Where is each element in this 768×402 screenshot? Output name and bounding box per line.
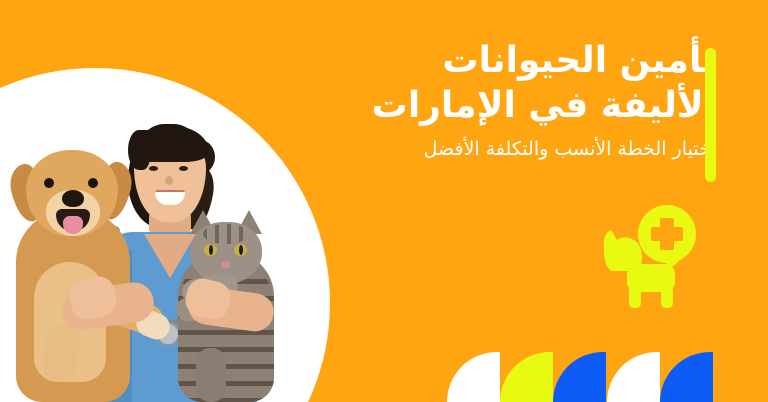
vet-hair-front (131, 126, 209, 162)
dog-eye-right (88, 178, 98, 188)
cat-forehead-markings (203, 224, 249, 244)
vet-nose (165, 176, 173, 185)
vertical-accent-bar (705, 48, 716, 182)
headline-line-1: تأمين الحيوانات (316, 38, 716, 83)
vet-eye-right (179, 166, 188, 171)
quarter-circle-1 (447, 352, 500, 402)
cat-nose (221, 261, 230, 268)
quarter-circle-2 (500, 352, 553, 402)
quarter-circle-5 (660, 352, 713, 402)
vet-eye-left (149, 166, 158, 171)
cat-eye-left (204, 244, 217, 256)
quarter-circle-3 (553, 352, 606, 402)
dog-with-medical-cross-icon (594, 202, 706, 314)
cat-eye-right (234, 244, 247, 256)
photo-stage (0, 0, 330, 402)
veterinarian-with-dog-and-cat-photo (0, 0, 330, 402)
dog-nose (62, 190, 84, 207)
subheadline: اختيار الخطة الأنسب والتكلفة الأفضل (316, 137, 716, 163)
headline-block: تأمين الحيوانات الأليفة في الإمارات اختي… (316, 38, 716, 163)
vet-eyebrow-left (146, 159, 159, 162)
headline-line-2: الأليفة في الإمارات (316, 83, 716, 128)
dog-eye-left (44, 178, 54, 188)
bottom-quarter-circle-row (0, 352, 768, 402)
quarter-circle-4 (607, 352, 660, 402)
vet-eyebrow-right (177, 159, 190, 162)
pet-insurance-hero-banner: تأمين الحيوانات الأليفة في الإمارات اختي… (0, 0, 768, 402)
